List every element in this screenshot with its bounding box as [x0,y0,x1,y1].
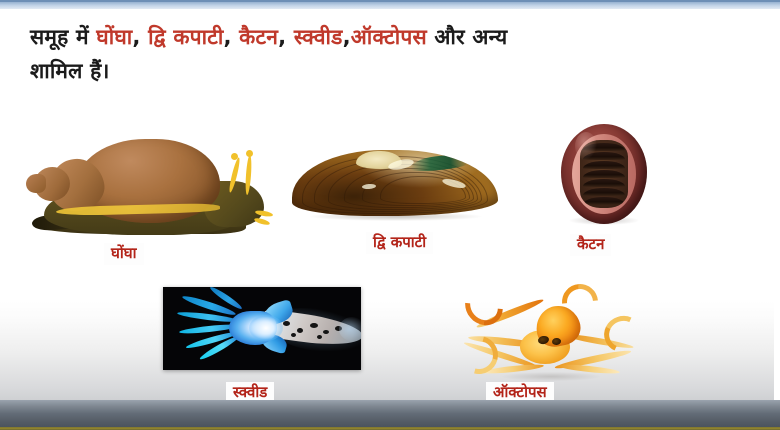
snail-shell-apex [26,174,46,193]
figure-bivalve [288,142,502,228]
title-sep-1: , [132,25,148,49]
chiton-highlight [575,132,597,160]
chiton-plate [583,179,625,187]
title-suffix: और अन्य [427,25,508,49]
caption-bivalve: द्वि कपाटी [366,232,433,254]
squid-chromatophore [283,321,290,326]
figure-snail [26,133,274,241]
squid-chromatophore [323,330,329,334]
chiton-plate [583,161,625,169]
octopus-arm-curl [457,279,510,333]
squid-chromatophore [297,328,303,333]
squid-photo [163,287,361,370]
slide-canvas: समूह में घोंघा, द्वि कपाटी, कैटन, स्क्वी… [0,0,780,430]
highlight-term-squid: स्क्वीड [294,25,343,49]
figure-chiton [561,124,647,224]
octopus-drop-shadow [502,372,600,381]
chiton-plate [583,188,625,196]
snail-eye-2 [246,150,253,157]
octopus-arm-curl [599,311,647,358]
squid-chromatophore [291,333,296,337]
title-line-2: शामिल हैं। [30,59,110,83]
chiton-plate [583,197,625,205]
highlight-term-chiton: कैटन [239,25,278,49]
top-decorative-bar [0,0,780,9]
snail-eye-1 [231,153,238,160]
squid-chromatophore [317,335,322,339]
title-sep-2: , [223,25,239,49]
octopus-illustration [458,280,636,382]
bivalve-shell-shape [292,150,498,216]
top-bar-edge-line [0,0,780,2]
snail-oral-tentacle-2 [254,217,271,226]
highlight-term-snail: घोंघा [96,25,132,49]
bottom-decorative-bar [0,400,780,430]
title-sep-3: , [278,25,294,49]
bivalve-shell-illustration [288,142,502,228]
page-title: समूह में घोंघा, द्वि कपाटी, कैटन, स्क्वी… [30,20,760,88]
highlight-term-bivalve: द्वि कपाटी [148,25,223,49]
right-margin-strip [774,9,780,430]
figure-squid [163,287,361,370]
snail-illustration [26,133,274,241]
title-sep-4: , [343,25,351,49]
highlight-term-octopus: ऑक्टोपस [351,25,427,49]
squid-light-flash [249,315,283,341]
squid-tail-glow [339,317,361,341]
title-prefix: समूह में [30,25,96,49]
chiton-plate [583,170,625,178]
caption-snail: घोंघा [104,243,144,265]
figure-octopus [458,280,636,382]
squid-chromatophore [310,323,318,328]
caption-chiton: कैटन [570,234,611,256]
chiton-illustration [561,124,647,224]
